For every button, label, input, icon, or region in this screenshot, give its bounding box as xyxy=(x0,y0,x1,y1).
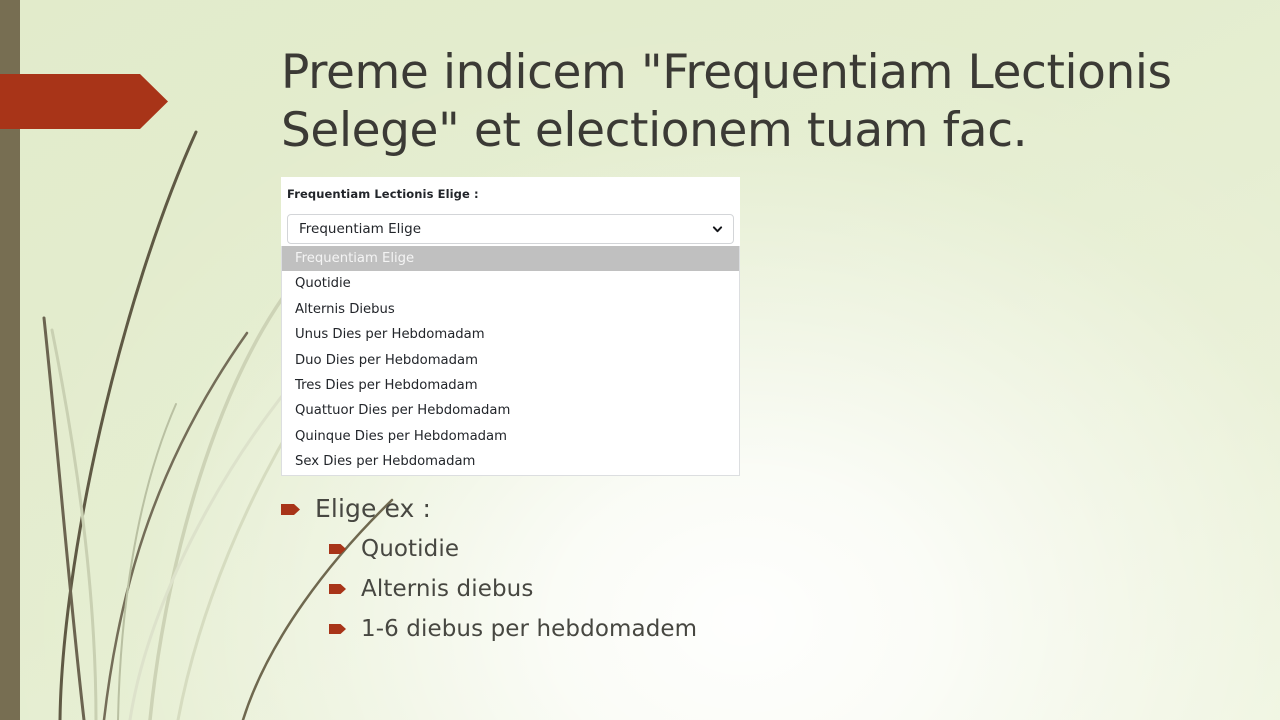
pennant-bullet-icon xyxy=(281,503,300,516)
frequency-select[interactable]: Frequentiam Elige xyxy=(287,214,734,244)
bullet-list: Elige ex : Quotidie Alternis diebus 1-6 … xyxy=(281,494,1081,654)
red-arrow-banner xyxy=(0,74,168,129)
bullet-item-lead: Elige ex : xyxy=(281,494,1081,524)
page-title: Preme indicem "Frequentiam Lectionis Sel… xyxy=(281,44,1211,160)
bullet-item: Alternis diebus xyxy=(329,574,1081,604)
bullet-text: 1-6 diebus per hebdomadem xyxy=(361,614,697,644)
option-item[interactable]: Quinque Dies per Hebdomadam xyxy=(282,424,739,449)
option-item[interactable]: Duo Dies per Hebdomadam xyxy=(282,348,739,373)
option-item[interactable]: Sex Dies per Hebdomadam xyxy=(282,449,739,474)
pennant-bullet-icon xyxy=(329,543,346,555)
option-item[interactable]: Tres Dies per Hebdomadam xyxy=(282,373,739,398)
bullet-text: Elige ex : xyxy=(315,494,431,524)
bullet-item: 1-6 diebus per hebdomadem xyxy=(329,614,1081,644)
bullet-text: Alternis diebus xyxy=(361,574,533,604)
option-item[interactable]: Quattuor Dies per Hebdomadam xyxy=(282,398,739,423)
frequency-selector-card: Frequentiam Lectionis Elige : Frequentia… xyxy=(281,177,740,476)
bullet-item: Quotidie xyxy=(329,534,1081,564)
pennant-bullet-icon xyxy=(329,623,346,635)
option-item[interactable]: Frequentiam Elige xyxy=(282,246,739,271)
option-item[interactable]: Alternis Diebus xyxy=(282,297,739,322)
option-item[interactable]: Quotidie xyxy=(282,271,739,296)
frequency-option-list[interactable]: Frequentiam Elige Quotidie Alternis Dieb… xyxy=(281,246,740,476)
slide-canvas: Preme indicem "Frequentiam Lectionis Sel… xyxy=(0,0,1280,720)
frequency-field-label: Frequentiam Lectionis Elige : xyxy=(287,183,734,201)
option-item[interactable]: Unus Dies per Hebdomadam xyxy=(282,322,739,347)
bullet-text: Quotidie xyxy=(361,534,459,564)
frequency-select-value: Frequentiam Elige xyxy=(288,221,421,237)
chevron-down-icon xyxy=(712,224,723,235)
pennant-bullet-icon xyxy=(329,583,346,595)
